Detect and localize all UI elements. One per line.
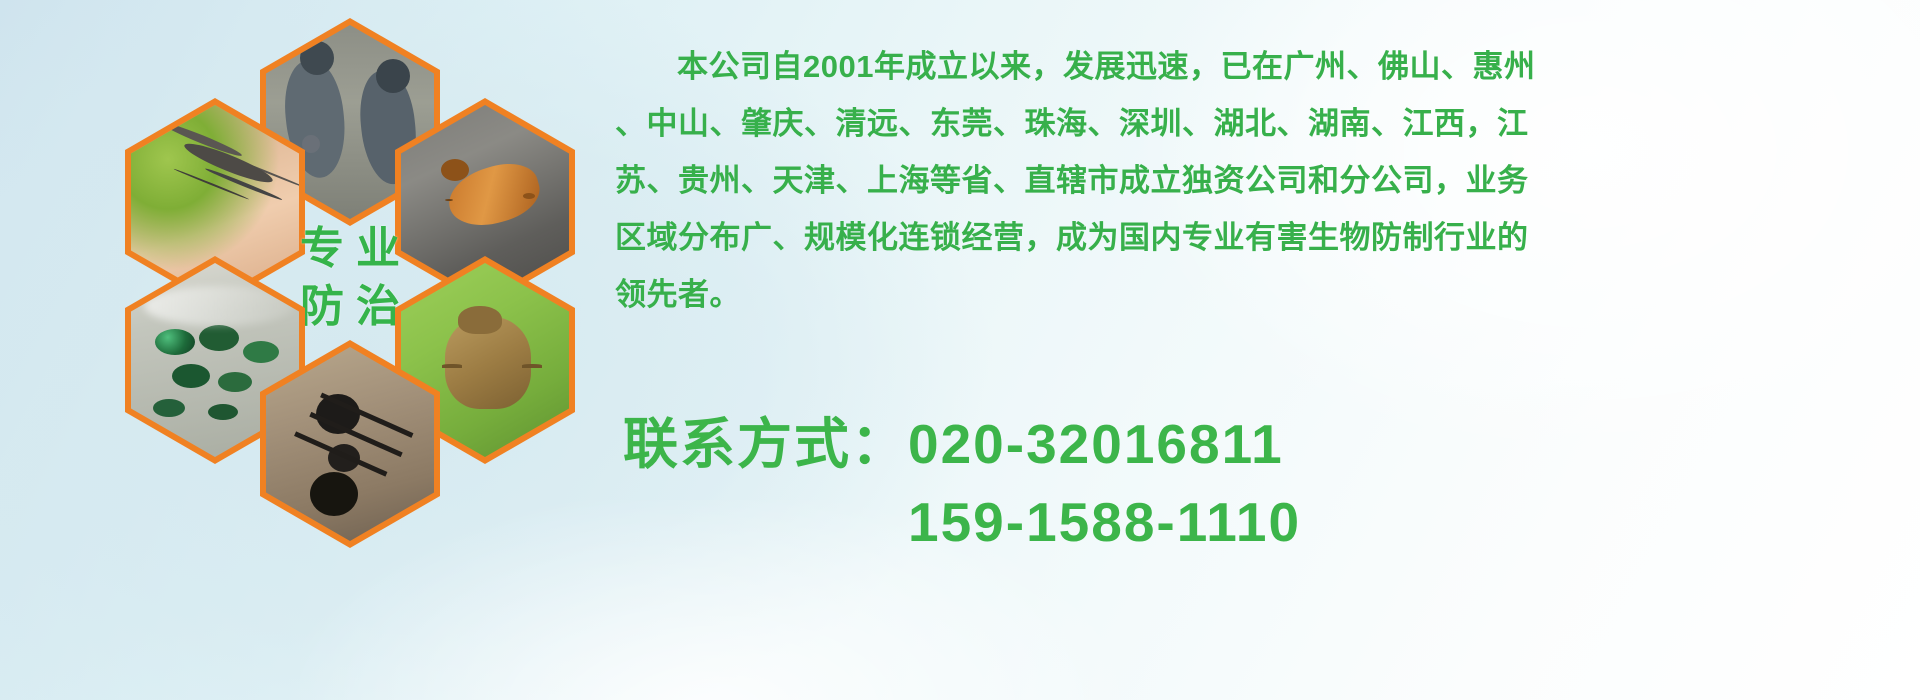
description-line-5: 领先者。 [615, 266, 1905, 323]
description-line-1: 本公司自2001年成立以来，发展迅速，已在广州、佛山、惠州 [615, 38, 1905, 95]
contact-phone-primary[interactable]: 联系方式：020-32016811 [623, 405, 1903, 483]
banner-content: 本公司自2001年成立以来，发展迅速，已在广州、佛山、惠州 、中山、肇庆、清远、… [615, 0, 1905, 700]
contact-block: 联系方式：020-32016811 159-1588-1110 [623, 405, 1903, 561]
contact-phone-secondary[interactable]: 159-1588-1110 [623, 483, 1903, 561]
pest-control-banner: 专业 防治 本公司自2001年成立以来，发展迅速，已在广州、佛山、惠州 、中山、… [0, 0, 1920, 700]
company-description: 本公司自2001年成立以来，发展迅速，已在广州、佛山、惠州 、中山、肇庆、清远、… [615, 38, 1905, 323]
badge-line-1: 专业 [288, 225, 412, 273]
ant-image [266, 347, 434, 541]
description-line-2: 、中山、肇庆、清远、东莞、珠海、深圳、湖北、湖南、江西，江 [615, 95, 1905, 152]
badge-line-2: 防治 [288, 283, 412, 331]
hex-photo-ant-frame [266, 347, 434, 541]
description-line-4: 区域分布广、规模化连锁经营，成为国内专业有害生物防制行业的 [615, 209, 1905, 266]
description-line-3: 苏、贵州、天津、上海等省、直辖市成立独资公司和分公司，业务 [615, 152, 1905, 209]
honeycomb-photo-cluster: 专业 防治 [95, 10, 595, 570]
